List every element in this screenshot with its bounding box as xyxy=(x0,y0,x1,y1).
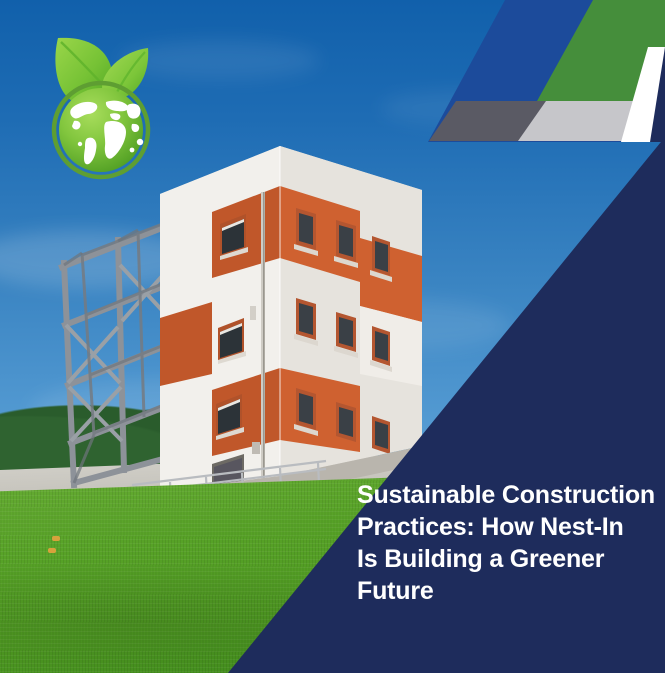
lawn-marker xyxy=(48,548,56,553)
article-cover-banner: Sustainable Construction Practices: How … xyxy=(0,0,665,673)
page-title: Sustainable Construction Practices: How … xyxy=(357,479,657,607)
eco-globe-leaf-logo[interactable] xyxy=(44,26,162,186)
title-line: Sustainable Construction xyxy=(357,479,657,511)
title-line: Is Building a Greener xyxy=(357,543,657,575)
title-line: Practices: How Nest-In xyxy=(357,511,657,543)
globe-icon xyxy=(59,88,143,172)
lawn-marker xyxy=(52,536,60,541)
title-line: Future xyxy=(357,575,657,607)
